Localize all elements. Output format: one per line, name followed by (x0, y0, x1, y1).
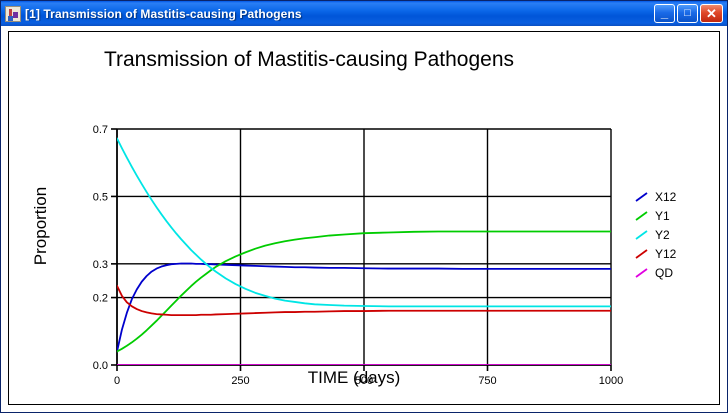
legend-swatch-x12 (634, 190, 650, 204)
legend-label-qd: QD (655, 266, 673, 280)
legend-swatch-y1 (634, 209, 650, 223)
y-tick-label: 0.7 (93, 124, 108, 136)
legend-label-y2: Y2 (655, 228, 670, 242)
window-controls: _ □ ✕ (654, 4, 725, 23)
window-title: [1] Transmission of Mastitis-causing Pat… (25, 7, 654, 21)
legend-item-qd[interactable]: QD (634, 263, 720, 282)
close-button[interactable]: ✕ (700, 4, 723, 23)
x-tick-label: 750 (478, 375, 496, 387)
plot-canvas: 0.00.20.30.50.702505007501000 (9, 32, 721, 406)
window-client-area: Transmission of Mastitis-causing Pathoge… (1, 26, 727, 412)
y-tick-label: 0.0 (93, 360, 108, 372)
chart: Transmission of Mastitis-causing Pathoge… (9, 32, 721, 406)
minimize-button[interactable]: _ (654, 4, 675, 23)
x-tick-label: 500 (355, 375, 373, 387)
grid-lines (117, 129, 611, 365)
maximize-icon: □ (678, 8, 697, 19)
legend-item-y2[interactable]: Y2 (634, 225, 720, 244)
figure-window: [1] Transmission of Mastitis-causing Pat… (0, 0, 728, 413)
legend-swatch-y12 (634, 247, 650, 261)
legend-swatch-qd (634, 266, 650, 280)
minimize-icon: _ (655, 6, 674, 19)
y-tick-label: 0.3 (93, 259, 108, 271)
y-tick-label: 0.5 (93, 191, 108, 203)
maximize-button[interactable]: □ (677, 4, 698, 23)
legend-item-y12[interactable]: Y12 (634, 244, 720, 263)
tick-labels: 0.00.20.30.50.702505007501000 (93, 124, 624, 387)
title-bar[interactable]: [1] Transmission of Mastitis-causing Pat… (1, 1, 727, 26)
legend-label-y1: Y1 (655, 209, 670, 223)
axis-ticks (111, 129, 611, 371)
x-tick-label: 1000 (599, 375, 623, 387)
figure-panel: Transmission of Mastitis-causing Pathoge… (8, 31, 720, 405)
figure-window-icon (5, 6, 21, 22)
y-tick-label: 0.2 (93, 293, 108, 305)
legend-swatch-y2 (634, 228, 650, 242)
legend-label-y12: Y12 (655, 247, 676, 261)
x-tick-label: 250 (231, 375, 249, 387)
legend-label-x12: X12 (655, 190, 676, 204)
close-icon: ✕ (701, 7, 722, 20)
legend-item-x12[interactable]: X12 (634, 187, 720, 206)
x-tick-label: 0 (114, 375, 120, 387)
legend: X12Y1Y2Y12QD (634, 187, 720, 282)
legend-item-y1[interactable]: Y1 (634, 206, 720, 225)
